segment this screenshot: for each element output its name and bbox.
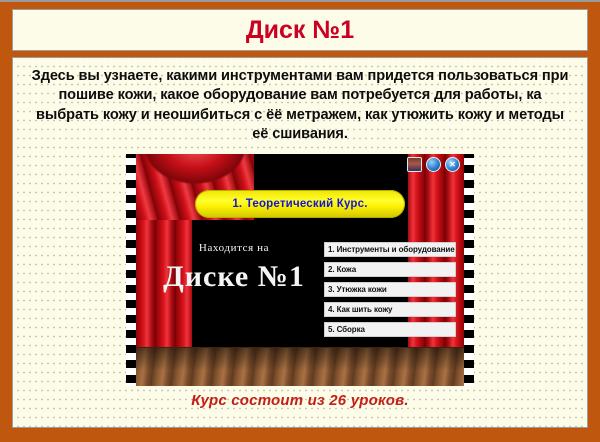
- thumbnail-icon[interactable]: [407, 157, 422, 172]
- info-dot-icon[interactable]: [426, 157, 441, 172]
- course-title-banner-label: 1. Теоретический Курс.: [232, 198, 367, 210]
- located-label: Находится на: [150, 242, 318, 254]
- located-block: Находится на Диске №1: [150, 242, 318, 292]
- embedded-screenshot[interactable]: ✕ 1. Теоретический Курс. Находится на Ди…: [126, 154, 474, 386]
- lesson-menu-item[interactable]: 1. Инструменты и оборудование: [324, 242, 456, 257]
- title-panel: Диск №1: [12, 9, 588, 51]
- course-title-banner: 1. Теоретический Курс.: [195, 190, 405, 218]
- page-frame: Диск №1 Здесь вы узнаете, какими инструм…: [0, 0, 600, 442]
- lesson-menu-item[interactable]: 5. Сборка: [324, 322, 456, 337]
- lesson-menu-item-label: 2. Кожа: [328, 265, 356, 274]
- window-controls[interactable]: ✕: [407, 157, 460, 172]
- lesson-menu-item-label: 4. Как шить кожу: [328, 305, 392, 314]
- lesson-menu[interactable]: 1. Инструменты и оборудование 2. Кожа 3.…: [324, 242, 456, 342]
- lesson-menu-item[interactable]: 4. Как шить кожу: [324, 302, 456, 317]
- close-icon[interactable]: ✕: [445, 157, 460, 172]
- content-panel: Здесь вы узнаете, какими инструментами в…: [12, 57, 588, 428]
- film-sprockets-left: [126, 154, 136, 386]
- stage-floor: [136, 347, 464, 386]
- intro-paragraph: Здесь вы узнаете, какими инструментами в…: [27, 67, 573, 145]
- stage-scene: ✕ 1. Теоретический Курс. Находится на Ди…: [136, 154, 464, 386]
- lesson-menu-item[interactable]: 3. Утюжка кожи: [324, 282, 456, 297]
- lesson-menu-item-label: 1. Инструменты и оборудование: [328, 245, 455, 254]
- lessons-count-caption: Курс состоит из 26 уроков.: [13, 392, 587, 409]
- film-sprockets-right: [464, 154, 474, 386]
- page-title: Диск №1: [246, 18, 354, 43]
- lesson-menu-item[interactable]: 2. Кожа: [324, 262, 456, 277]
- lesson-menu-item-label: 5. Сборка: [328, 325, 365, 334]
- disc-name: Диске №1: [150, 262, 318, 292]
- lesson-menu-item-label: 3. Утюжка кожи: [328, 285, 387, 294]
